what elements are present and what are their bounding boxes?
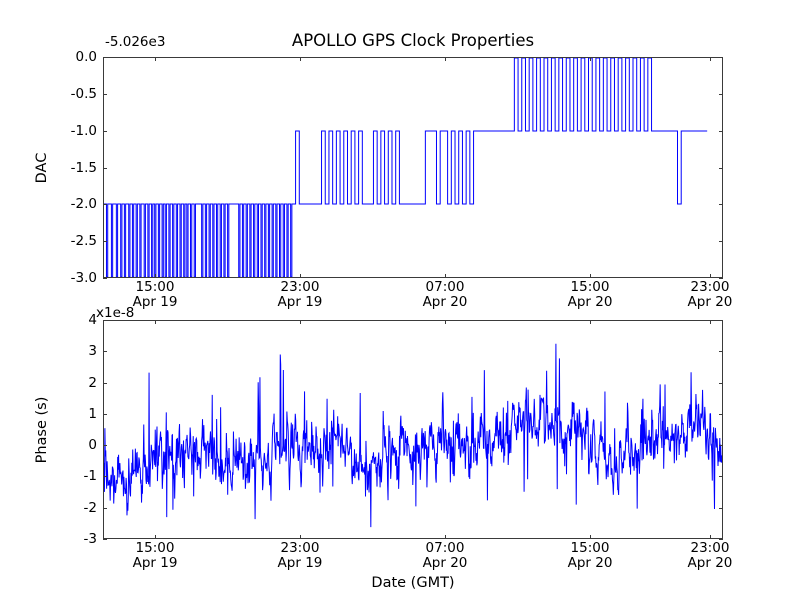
ytick-label: 2 <box>88 375 97 391</box>
phase-axis-xtick-labels: 15:00Apr 1923:00Apr 1907:00Apr 2015:00Ap… <box>103 541 723 577</box>
ytick-mark <box>103 320 107 321</box>
ytick-label: -1.0 <box>71 123 97 139</box>
matplotlib-figure: APOLLO GPS Clock Properties -5.026e3 DAC… <box>0 0 800 600</box>
xtick-mark <box>590 274 591 278</box>
xtick-mark <box>445 274 446 278</box>
xtick-mark <box>300 535 301 539</box>
ytick-mark <box>103 168 107 169</box>
ytick-mark <box>103 383 107 384</box>
ytick-label: -3 <box>84 531 97 547</box>
ytick-label: -2.5 <box>71 233 97 249</box>
dac-axis-ytick-labels: 0.0-0.5-1.0-1.5-2.0-2.5-3.0 <box>39 57 97 278</box>
xtick-mark <box>445 57 446 61</box>
ytick-mark <box>719 383 723 384</box>
dac-series-line <box>104 58 722 277</box>
ytick-label: -1.5 <box>71 160 97 176</box>
ytick-mark <box>719 414 723 415</box>
dac-axis-xtick-labels: 15:00Apr 1923:00Apr 1907:00Apr 2015:00Ap… <box>103 280 723 316</box>
dac-axis-offset-text: -5.026e3 <box>105 34 165 50</box>
xtick-mark <box>300 57 301 61</box>
ytick-mark <box>719 168 723 169</box>
xtick-label: 15:00Apr 20 <box>568 280 613 309</box>
phase-axis-multiplier-text: x1e-8 <box>96 305 134 321</box>
xtick-label: 07:00Apr 20 <box>423 280 468 309</box>
xtick-mark <box>590 320 591 324</box>
ytick-mark <box>719 94 723 95</box>
ytick-mark <box>103 131 107 132</box>
ytick-mark <box>719 57 723 58</box>
ytick-label: 0.0 <box>76 49 97 65</box>
ytick-mark <box>719 131 723 132</box>
ytick-label: -0.5 <box>71 86 97 102</box>
ytick-mark <box>103 476 107 477</box>
xtick-mark <box>300 320 301 324</box>
ytick-mark <box>103 414 107 415</box>
phase-plot-area <box>103 320 723 539</box>
ytick-mark <box>103 94 107 95</box>
ytick-label: -2 <box>84 500 97 516</box>
ytick-mark <box>719 508 723 509</box>
xtick-mark <box>710 57 711 61</box>
xtick-mark <box>710 274 711 278</box>
ytick-mark <box>719 241 723 242</box>
ytick-label: -3.0 <box>71 270 97 286</box>
ytick-label: -2.0 <box>71 196 97 212</box>
xtick-mark <box>710 535 711 539</box>
ytick-mark <box>719 204 723 205</box>
ytick-label: -1 <box>84 468 97 484</box>
xtick-mark <box>445 320 446 324</box>
ytick-mark <box>103 241 107 242</box>
xtick-mark <box>590 57 591 61</box>
ytick-mark <box>103 204 107 205</box>
xtick-mark <box>590 535 591 539</box>
ytick-mark <box>103 278 107 279</box>
phase-axis-ytick-labels: 43210-1-2-3 <box>39 320 97 539</box>
dac-plot-area <box>103 57 723 278</box>
xtick-mark <box>155 274 156 278</box>
xtick-mark <box>445 535 446 539</box>
phase-axis-xlabel: Date (GMT) <box>103 575 723 591</box>
ytick-mark <box>103 351 107 352</box>
xtick-mark <box>155 57 156 61</box>
ytick-mark <box>719 476 723 477</box>
xtick-mark <box>710 320 711 324</box>
ytick-mark <box>719 445 723 446</box>
xtick-mark <box>300 274 301 278</box>
xtick-mark <box>155 535 156 539</box>
xtick-mark <box>155 320 156 324</box>
ytick-mark <box>719 320 723 321</box>
ytick-mark <box>103 445 107 446</box>
ytick-mark <box>719 351 723 352</box>
ytick-mark <box>103 57 107 58</box>
xtick-label: 15:00Apr 19 <box>133 280 178 309</box>
xtick-label: 23:00Apr 20 <box>688 541 733 570</box>
xtick-label: 23:00Apr 19 <box>278 280 323 309</box>
xtick-label: 23:00Apr 19 <box>278 541 323 570</box>
ytick-mark <box>103 539 107 540</box>
phase-series-line <box>104 321 722 538</box>
ytick-label: 0 <box>88 437 97 453</box>
figure-title: APOLLO GPS Clock Properties <box>103 31 723 50</box>
xtick-label: 07:00Apr 20 <box>423 541 468 570</box>
xtick-label: 23:00Apr 20 <box>688 280 733 309</box>
ytick-label: 1 <box>88 406 97 422</box>
ytick-label: 3 <box>88 343 97 359</box>
xtick-label: 15:00Apr 19 <box>133 541 178 570</box>
ytick-mark <box>103 508 107 509</box>
xtick-label: 15:00Apr 20 <box>568 541 613 570</box>
ytick-label: 4 <box>88 312 97 328</box>
